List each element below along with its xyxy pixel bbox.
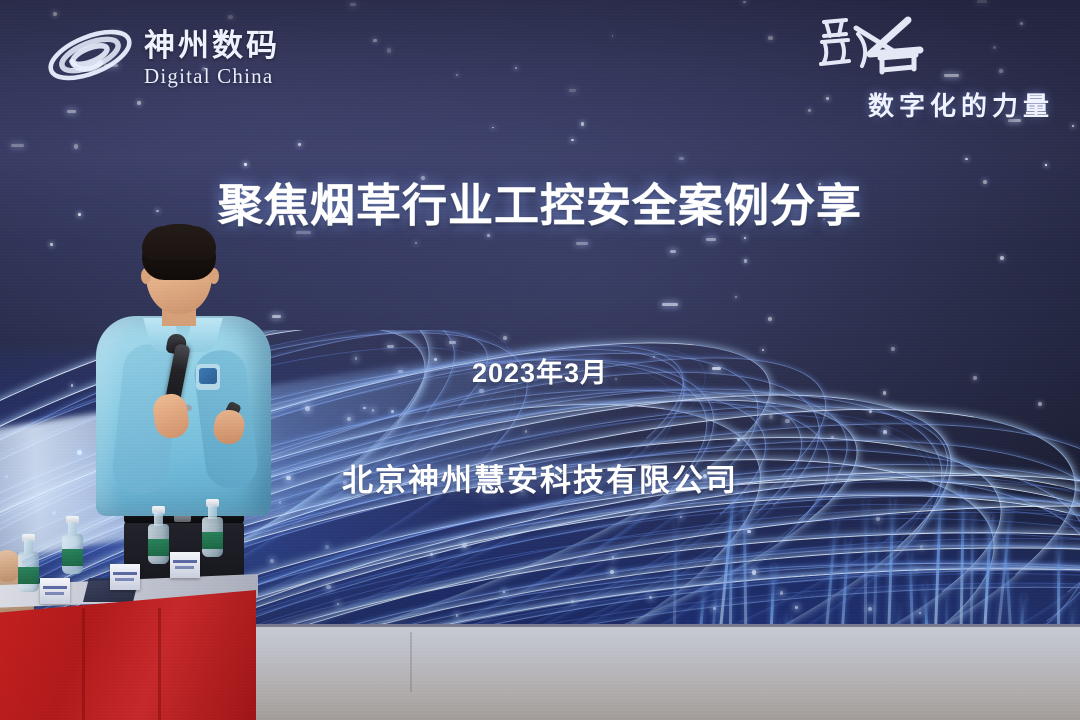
brand-name-en: Digital China	[144, 66, 280, 87]
brand-name-cn: 神州数码	[144, 30, 280, 61]
table-cloth-fold	[158, 608, 161, 720]
bottle-neck	[68, 522, 77, 536]
water-bottle	[18, 552, 39, 592]
water-bottle	[62, 534, 83, 574]
name-card-text	[173, 560, 197, 563]
brand-logo: 神州数码 Digital China	[44, 16, 280, 94]
bottle-neck	[154, 512, 163, 526]
name-card-text	[113, 572, 137, 575]
name-card	[170, 552, 200, 578]
bottle-label	[148, 539, 169, 556]
name-card-subtext	[115, 578, 134, 581]
bottle-label	[18, 567, 39, 584]
speaker-badge-logo-icon	[199, 368, 217, 384]
bottle-neck	[24, 540, 33, 554]
bottle-neck	[208, 505, 217, 519]
bottle-body	[202, 517, 223, 557]
speaker-hair-front	[142, 226, 216, 260]
bottle-label	[202, 532, 223, 549]
event-logo: 数字化的力量	[790, 14, 1060, 118]
bottle-label	[62, 549, 83, 566]
judges-table	[0, 545, 260, 720]
bottle-body	[18, 552, 39, 592]
water-bottle	[202, 517, 223, 557]
bottle-body	[148, 524, 169, 564]
event-tagline: 数字化的力量	[868, 86, 1054, 123]
name-card	[40, 578, 70, 604]
conference-stage-photo: 聚焦烟草行业工控安全案例分享 2023年3月 北京神州慧安科技有限公司 神州数码…	[0, 0, 1080, 720]
table-cloth-fold	[82, 608, 85, 720]
table-cloth	[0, 590, 256, 720]
name-card-subtext	[175, 566, 194, 569]
name-card-text	[43, 586, 67, 589]
name-card	[110, 564, 140, 590]
bottle-body	[62, 534, 83, 574]
brand-wordmark: 神州数码 Digital China	[144, 24, 280, 87]
spiral-galaxy-icon	[44, 16, 136, 94]
slide-title: 聚焦烟草行业工控安全案例分享	[0, 183, 1080, 228]
water-bottle	[148, 524, 169, 564]
name-card-subtext	[45, 592, 64, 595]
calligraphy-juhe-icon	[812, 14, 952, 86]
